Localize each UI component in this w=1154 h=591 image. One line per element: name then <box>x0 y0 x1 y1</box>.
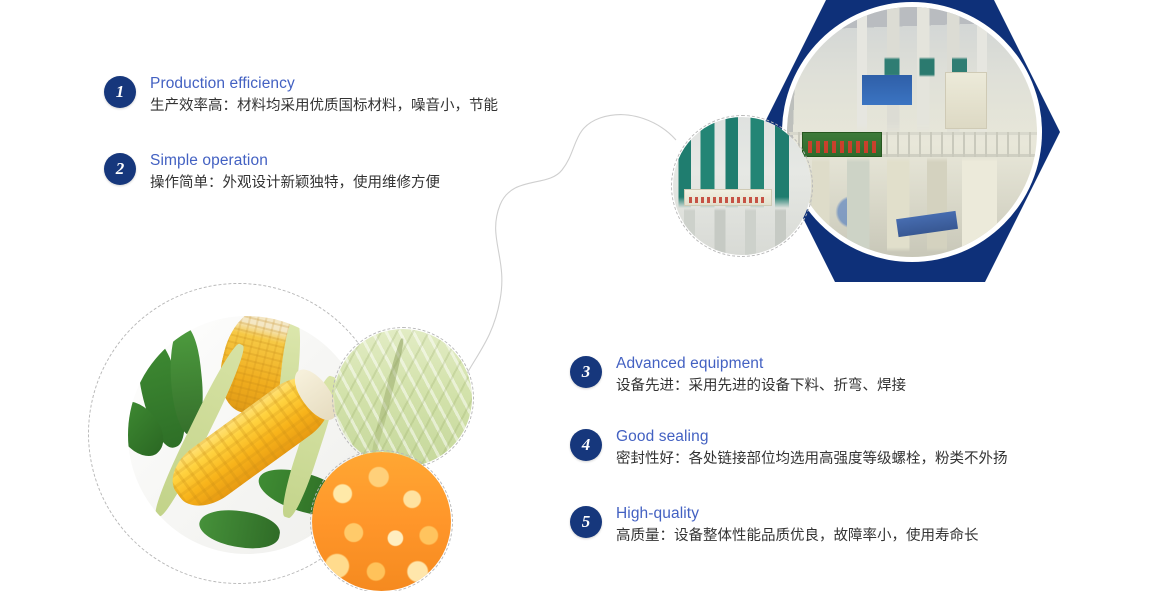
feature-title: Good sealing <box>616 427 1008 447</box>
feature-description: 设备先进：采用先进的设备下料、折弯、焊接 <box>616 375 906 397</box>
feature-description: 密封性好：各处链接部位均选用高强度等级螺栓，粉类不外扬 <box>616 448 1008 470</box>
feature-number-badge: 2 <box>104 153 136 185</box>
feature-title: Advanced equipment <box>616 354 906 374</box>
green-machine-base <box>673 117 811 255</box>
green-milling-machinery-photo <box>673 117 811 255</box>
feature-number-badge: 1 <box>104 76 136 108</box>
feature-title: Production efficiency <box>150 74 498 94</box>
corn-flour-photo <box>334 329 472 467</box>
feature-number-badge: 3 <box>570 356 602 388</box>
feature-number-badge: 4 <box>570 429 602 461</box>
feature-title: High-quality <box>616 504 979 524</box>
flour-milling-plant-photo <box>787 7 1037 257</box>
feature-description: 操作简单：外观设计新颖独特，使用维修方便 <box>150 172 440 194</box>
feature-description: 生产效率高：材料均采用优质国标材料，噪音小，节能 <box>150 95 498 117</box>
feature-item-4[interactable]: 4 Good sealing 密封性好：各处链接部位均选用高强度等级螺栓，粉类不… <box>570 427 1008 470</box>
feature-description: 高质量：设备整体性能品质优良，故障率小，使用寿命长 <box>616 525 979 547</box>
feature-item-5[interactable]: 5 High-quality 高质量：设备整体性能品质优良，故障率小，使用寿命长 <box>570 504 979 547</box>
feature-title: Simple operation <box>150 151 440 171</box>
feature-item-1[interactable]: 1 Production efficiency 生产效率高：材料均采用优质国标材… <box>104 74 498 117</box>
advantages-infographic: 1 Production efficiency 生产效率高：材料均采用优质国标材… <box>0 0 1154 591</box>
feature-number-badge: 5 <box>570 506 602 538</box>
feature-item-3[interactable]: 3 Advanced equipment 设备先进：采用先进的设备下料、折弯、焊… <box>570 354 906 397</box>
feature-item-2[interactable]: 2 Simple operation 操作简单：外观设计新颖独特，使用维修方便 <box>104 151 440 194</box>
corn-grits-photo <box>312 452 451 591</box>
